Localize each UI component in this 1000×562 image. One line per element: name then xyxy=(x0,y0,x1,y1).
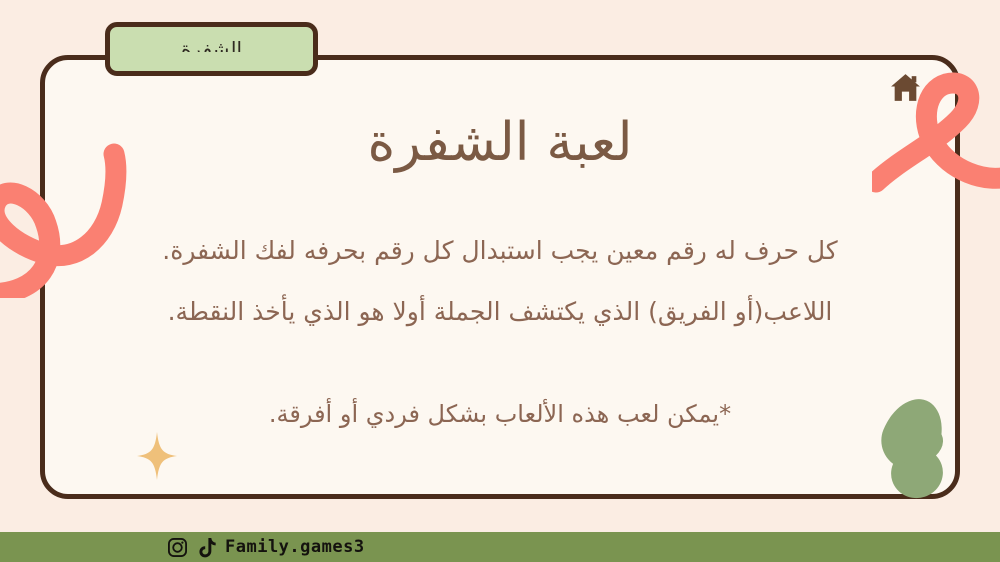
section-tab[interactable]: الشفرة xyxy=(105,22,318,76)
instruction-line-1: كل حرف له رقم معين يجب استبدال كل رقم بح… xyxy=(0,236,1000,265)
slide-canvas: الشفرة لعبة الشفرة كل حرف له رقم معين يج… xyxy=(0,0,1000,562)
home-icon[interactable] xyxy=(889,72,922,103)
footer-bar: Family.games3 xyxy=(0,532,1000,562)
tab-border-merge xyxy=(110,52,313,64)
social-handle-group: Family.games3 xyxy=(167,537,365,558)
page-title: لعبة الشفرة xyxy=(0,112,1000,173)
instruction-line-2: اللاعب(أو الفريق) الذي يكتشف الجملة أولا… xyxy=(0,297,1000,326)
instagram-icon[interactable] xyxy=(167,537,188,558)
instruction-note: *يمكن لعب هذه الألعاب بشكل فردي أو أفرقة… xyxy=(0,400,1000,428)
tiktok-icon[interactable] xyxy=(197,537,216,558)
sparkle-icon xyxy=(137,432,177,480)
social-handle-text: Family.games3 xyxy=(225,537,365,557)
